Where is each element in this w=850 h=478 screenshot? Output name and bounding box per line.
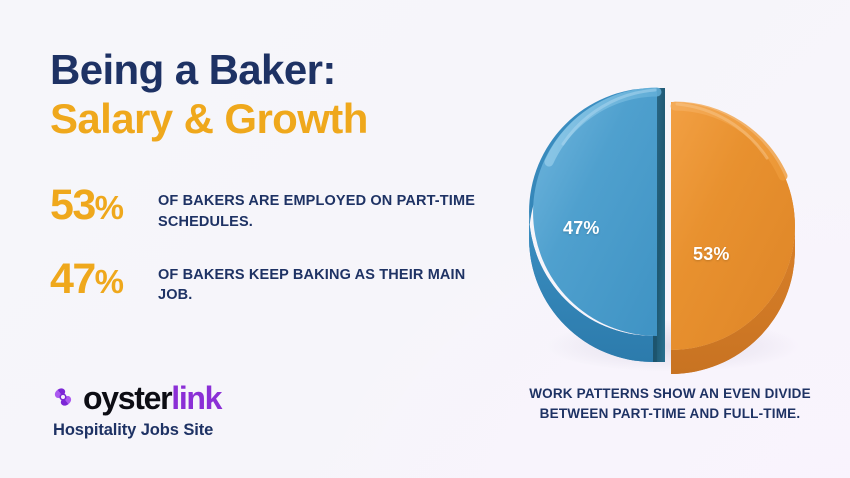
left-content-column: Being a Baker: Salary & Growth 53% OF BA… — [50, 46, 495, 332]
logo-tagline: Hospitality Jobs Site — [53, 421, 350, 440]
page-title: Being a Baker: Salary & Growth — [50, 46, 495, 143]
pie-label-blue: 47% — [563, 218, 600, 239]
stat-percentage: 53% — [50, 185, 158, 226]
chart-column: 47% 53% WORK PATTERNS SHOW AN EVEN DIVID… — [505, 78, 835, 424]
pie-label-orange: 53% — [693, 244, 730, 265]
logo-word-oyster: oyster — [83, 382, 171, 414]
statistics-list: 53% OF BAKERS ARE EMPLOYED ON PART-TIME … — [50, 185, 495, 305]
oyster-pearl-icon — [50, 384, 76, 410]
chart-caption: WORK PATTERNS SHOW AN EVEN DIVIDE BETWEE… — [505, 384, 835, 424]
stat-item: 53% OF BAKERS ARE EMPLOYED ON PART-TIME … — [50, 185, 495, 232]
stat-value: 47 — [50, 255, 95, 303]
logo-row: oysterlink — [50, 382, 350, 414]
pie-chart-svg — [505, 78, 835, 378]
percent-symbol: % — [95, 263, 123, 300]
logo-word-link: link — [171, 382, 221, 414]
pie-chart: 47% 53% — [505, 78, 835, 378]
stat-percentage: 47% — [50, 259, 158, 300]
title-line-1: Being a Baker: — [50, 46, 495, 95]
stat-value: 53 — [50, 181, 95, 229]
stat-description: OF BAKERS ARE EMPLOYED ON PART-TIME SCHE… — [158, 185, 495, 232]
title-line-2: Salary & Growth — [50, 95, 495, 144]
stat-description: OF BAKERS KEEP BAKING AS THEIR MAIN JOB. — [158, 259, 495, 306]
percent-symbol: % — [95, 189, 123, 226]
brand-logo-block: oysterlink Hospitality Jobs Site — [50, 382, 350, 440]
stat-item: 47% OF BAKERS KEEP BAKING AS THEIR MAIN … — [50, 259, 495, 306]
